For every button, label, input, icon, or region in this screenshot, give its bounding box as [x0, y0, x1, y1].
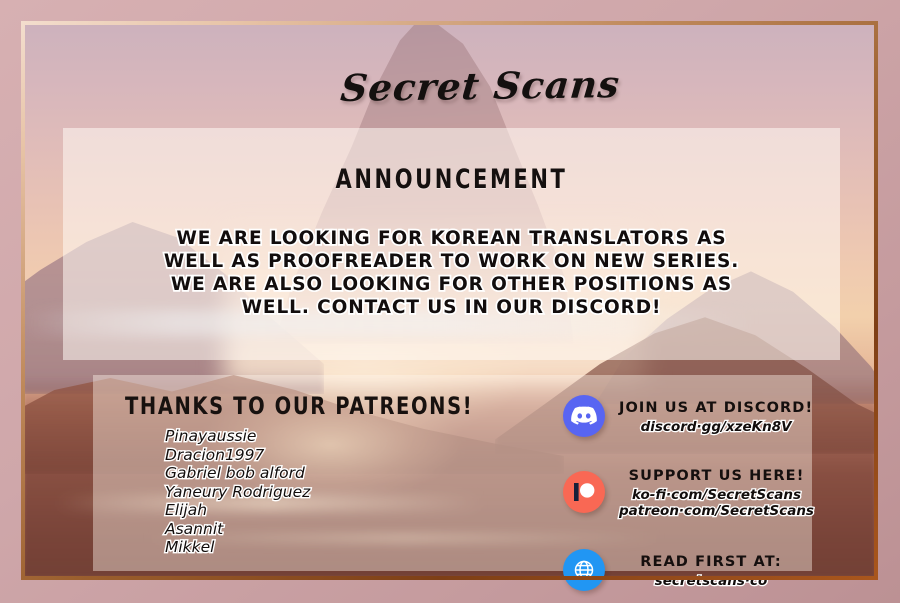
patron-list: Pinayaussie Dracion1997 Gabriel bob alfo…	[165, 427, 310, 557]
announcement-line: WELL AS PROOFREADER TO WORK ON NEW SERIE…	[63, 250, 840, 273]
list-item: Pinayaussie	[165, 427, 310, 446]
read-first-heading: READ FIRST AT:	[640, 554, 782, 570]
announcement-page: Secret Scans ANNOUNCEMENT WE ARE LOOKING…	[0, 0, 900, 603]
website-link-text: READ FIRST AT: secretscans·co	[619, 551, 803, 590]
globe-icon[interactable]	[563, 549, 605, 591]
website-url[interactable]: secretscans·co	[619, 573, 803, 590]
kofi-url[interactable]: ko-fi·com/SecretScans	[619, 487, 814, 504]
patreon-link-row[interactable]: SUPPORT US HERE! ko-fi·com/SecretScans p…	[563, 465, 803, 519]
list-item: Yaneury Rodriguez	[165, 483, 310, 502]
list-item: Elijah	[165, 501, 310, 520]
announcement-body: WE ARE LOOKING FOR KOREAN TRANSLATORS AS…	[63, 227, 840, 319]
patrons-heading: THANKS TO OUR PATREONS!	[125, 392, 473, 420]
website-link-row[interactable]: READ FIRST AT: secretscans·co	[563, 543, 803, 597]
discord-link-row[interactable]: JOIN US AT DISCORD! discord·gg/xzeKn8V	[563, 389, 803, 443]
list-item: Asannit	[165, 520, 310, 539]
list-item: Mikkel	[165, 538, 310, 557]
social-links: JOIN US AT DISCORD! discord·gg/xzeKn8V S…	[563, 387, 803, 597]
site-logo: Secret Scans	[355, 60, 605, 112]
announcement-line: WE ARE LOOKING FOR KOREAN TRANSLATORS AS	[63, 227, 840, 250]
discord-link-text: JOIN US AT DISCORD! discord·gg/xzeKn8V	[619, 397, 813, 436]
list-item: Gabriel bob alford	[165, 464, 310, 483]
support-heading: SUPPORT US HERE!	[629, 468, 805, 484]
list-item: Dracion1997	[165, 446, 310, 465]
credits-panel: THANKS TO OUR PATREONS! Pinayaussie Drac…	[93, 375, 812, 571]
announcement-title: ANNOUNCEMENT	[336, 164, 568, 194]
patreon-link-text: SUPPORT US HERE! ko-fi·com/SecretScans p…	[619, 465, 814, 520]
announcement-panel: ANNOUNCEMENT WE ARE LOOKING FOR KOREAN T…	[63, 128, 840, 360]
discord-icon[interactable]	[563, 395, 605, 437]
announcement-line: WELL. CONTACT US IN OUR DISCORD!	[63, 296, 840, 319]
announcement-line: WE ARE ALSO LOOKING FOR OTHER POSITIONS …	[63, 273, 840, 296]
patreon-url[interactable]: patreon·com/SecretScans	[619, 503, 814, 520]
patreon-icon[interactable]	[563, 471, 605, 513]
site-logo-text: Secret Scans	[338, 62, 621, 110]
discord-heading: JOIN US AT DISCORD!	[619, 400, 813, 416]
discord-url[interactable]: discord·gg/xzeKn8V	[619, 419, 813, 436]
